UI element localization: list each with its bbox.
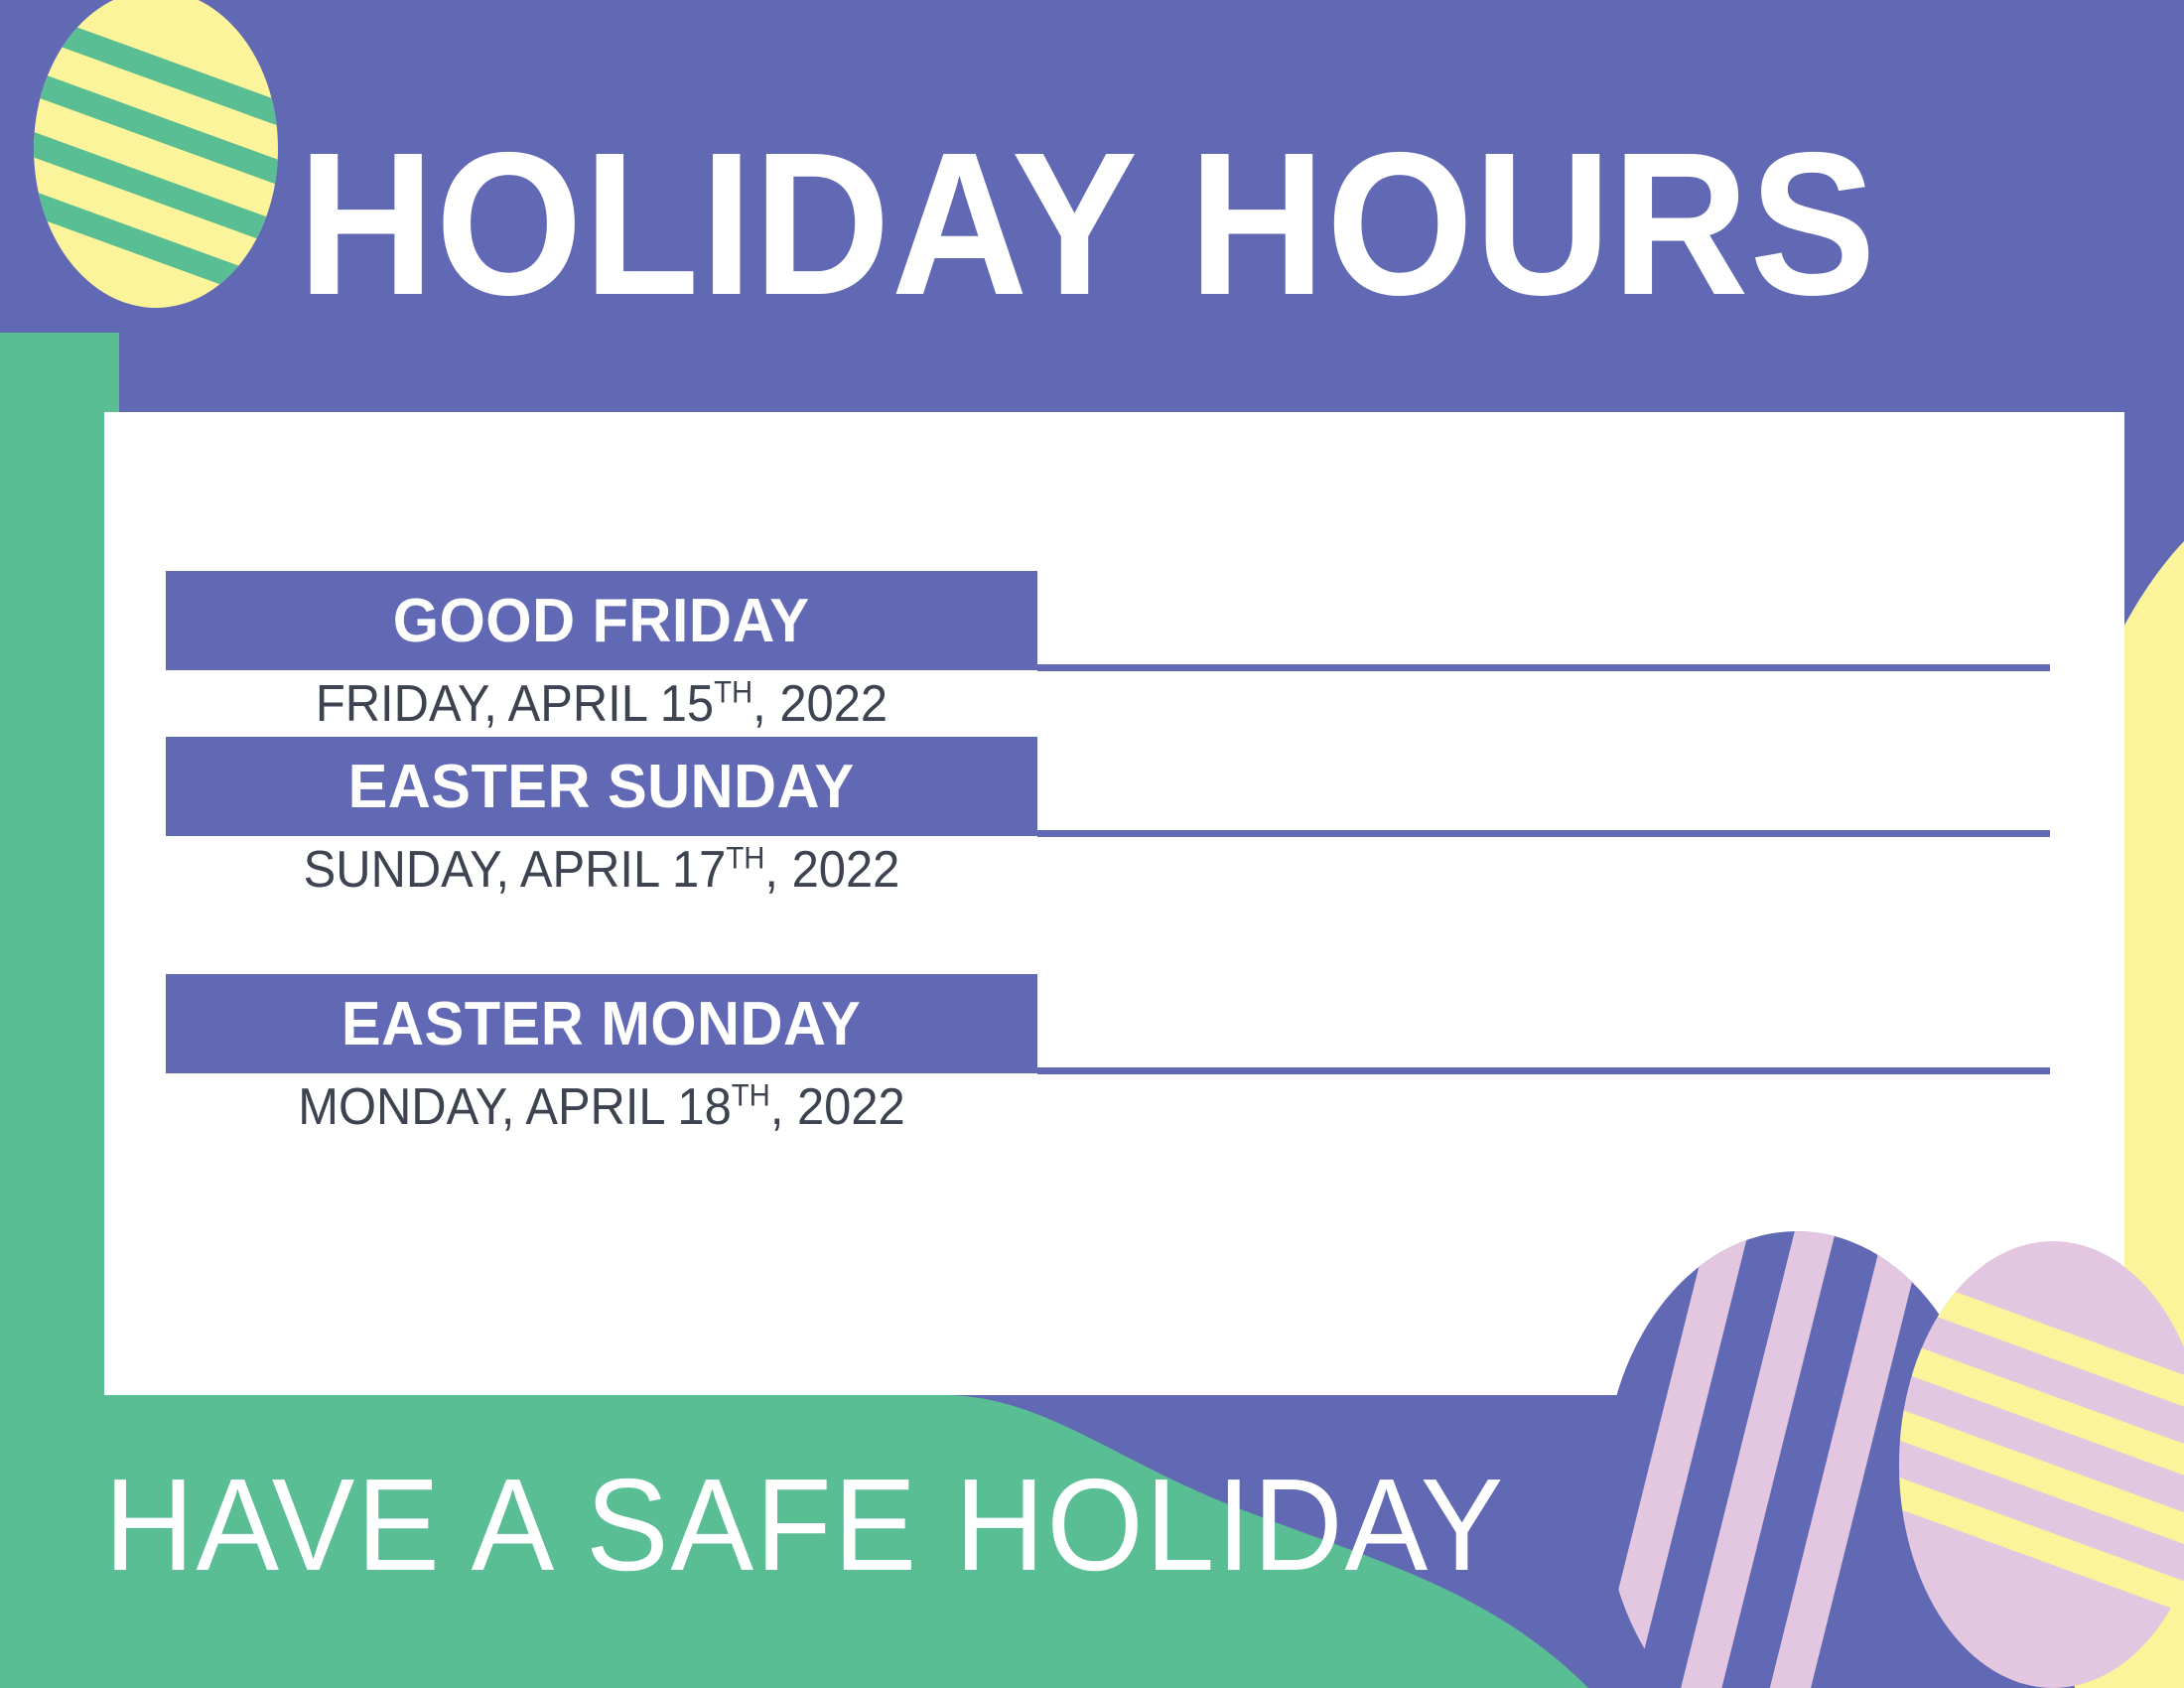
footer-message: HAVE A SAFE HOLIDAY <box>104 1460 1505 1591</box>
holiday-hours-poster: HOLIDAY HOURS GOOD FRIDAY FRIDAY, APRIL … <box>0 0 2184 1688</box>
foreground-shapes <box>0 0 2184 1688</box>
